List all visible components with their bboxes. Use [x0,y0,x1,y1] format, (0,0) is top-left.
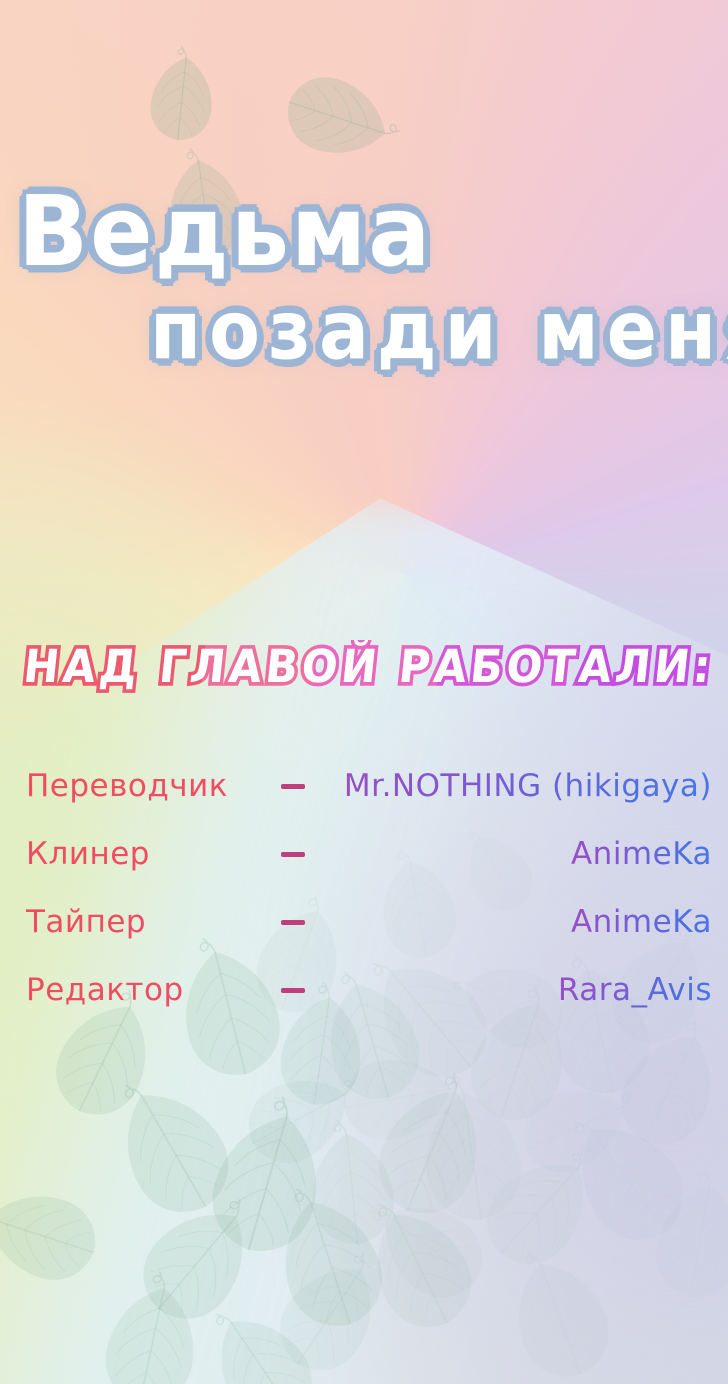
credits-row-editor: Редактор Rara_Avis [0,956,728,1024]
title-line-1: Ведьма [0,183,728,281]
credit-separator-dash [281,988,305,993]
credit-separator-dash [281,920,305,925]
credits-heading: НАД ГЛАВОЙ РАБОТАЛИ: НАД ГЛАВОЙ РАБОТАЛИ… [24,642,714,698]
manga-title: Ведьма позади меня [0,186,728,368]
credit-separator-dash [281,852,305,857]
credit-role-label: Тайпер [26,904,146,940]
credit-separator-dash [281,784,305,789]
credit-person-name: AnimeKa [571,904,712,940]
credits-row-translator: Переводчик Mr.NOTHING (hikigaya) [0,752,728,820]
title-line-2: позади меня [0,290,728,371]
credit-role-label: Клинер [26,836,150,872]
credit-person-name: Mr.NOTHING (hikigaya) [344,768,712,804]
credits-row-cleaner: Клинер AnimeKa [0,820,728,888]
credit-role-label: Редактор [26,972,184,1008]
credits-page: Ведьма позади меня НАД ГЛАВОЙ РАБОТАЛИ: … [0,0,728,1384]
credit-person-name: Rara_Avis [558,972,712,1008]
credit-role-label: Переводчик [26,768,228,804]
credits-list: Переводчик Mr.NOTHING (hikigaya) Клинер … [0,752,728,1024]
credit-person-name: AnimeKa [571,836,712,872]
credits-heading-text: НАД ГЛАВОЙ РАБОТАЛИ: [21,640,717,693]
credits-row-typer: Тайпер AnimeKa [0,888,728,956]
